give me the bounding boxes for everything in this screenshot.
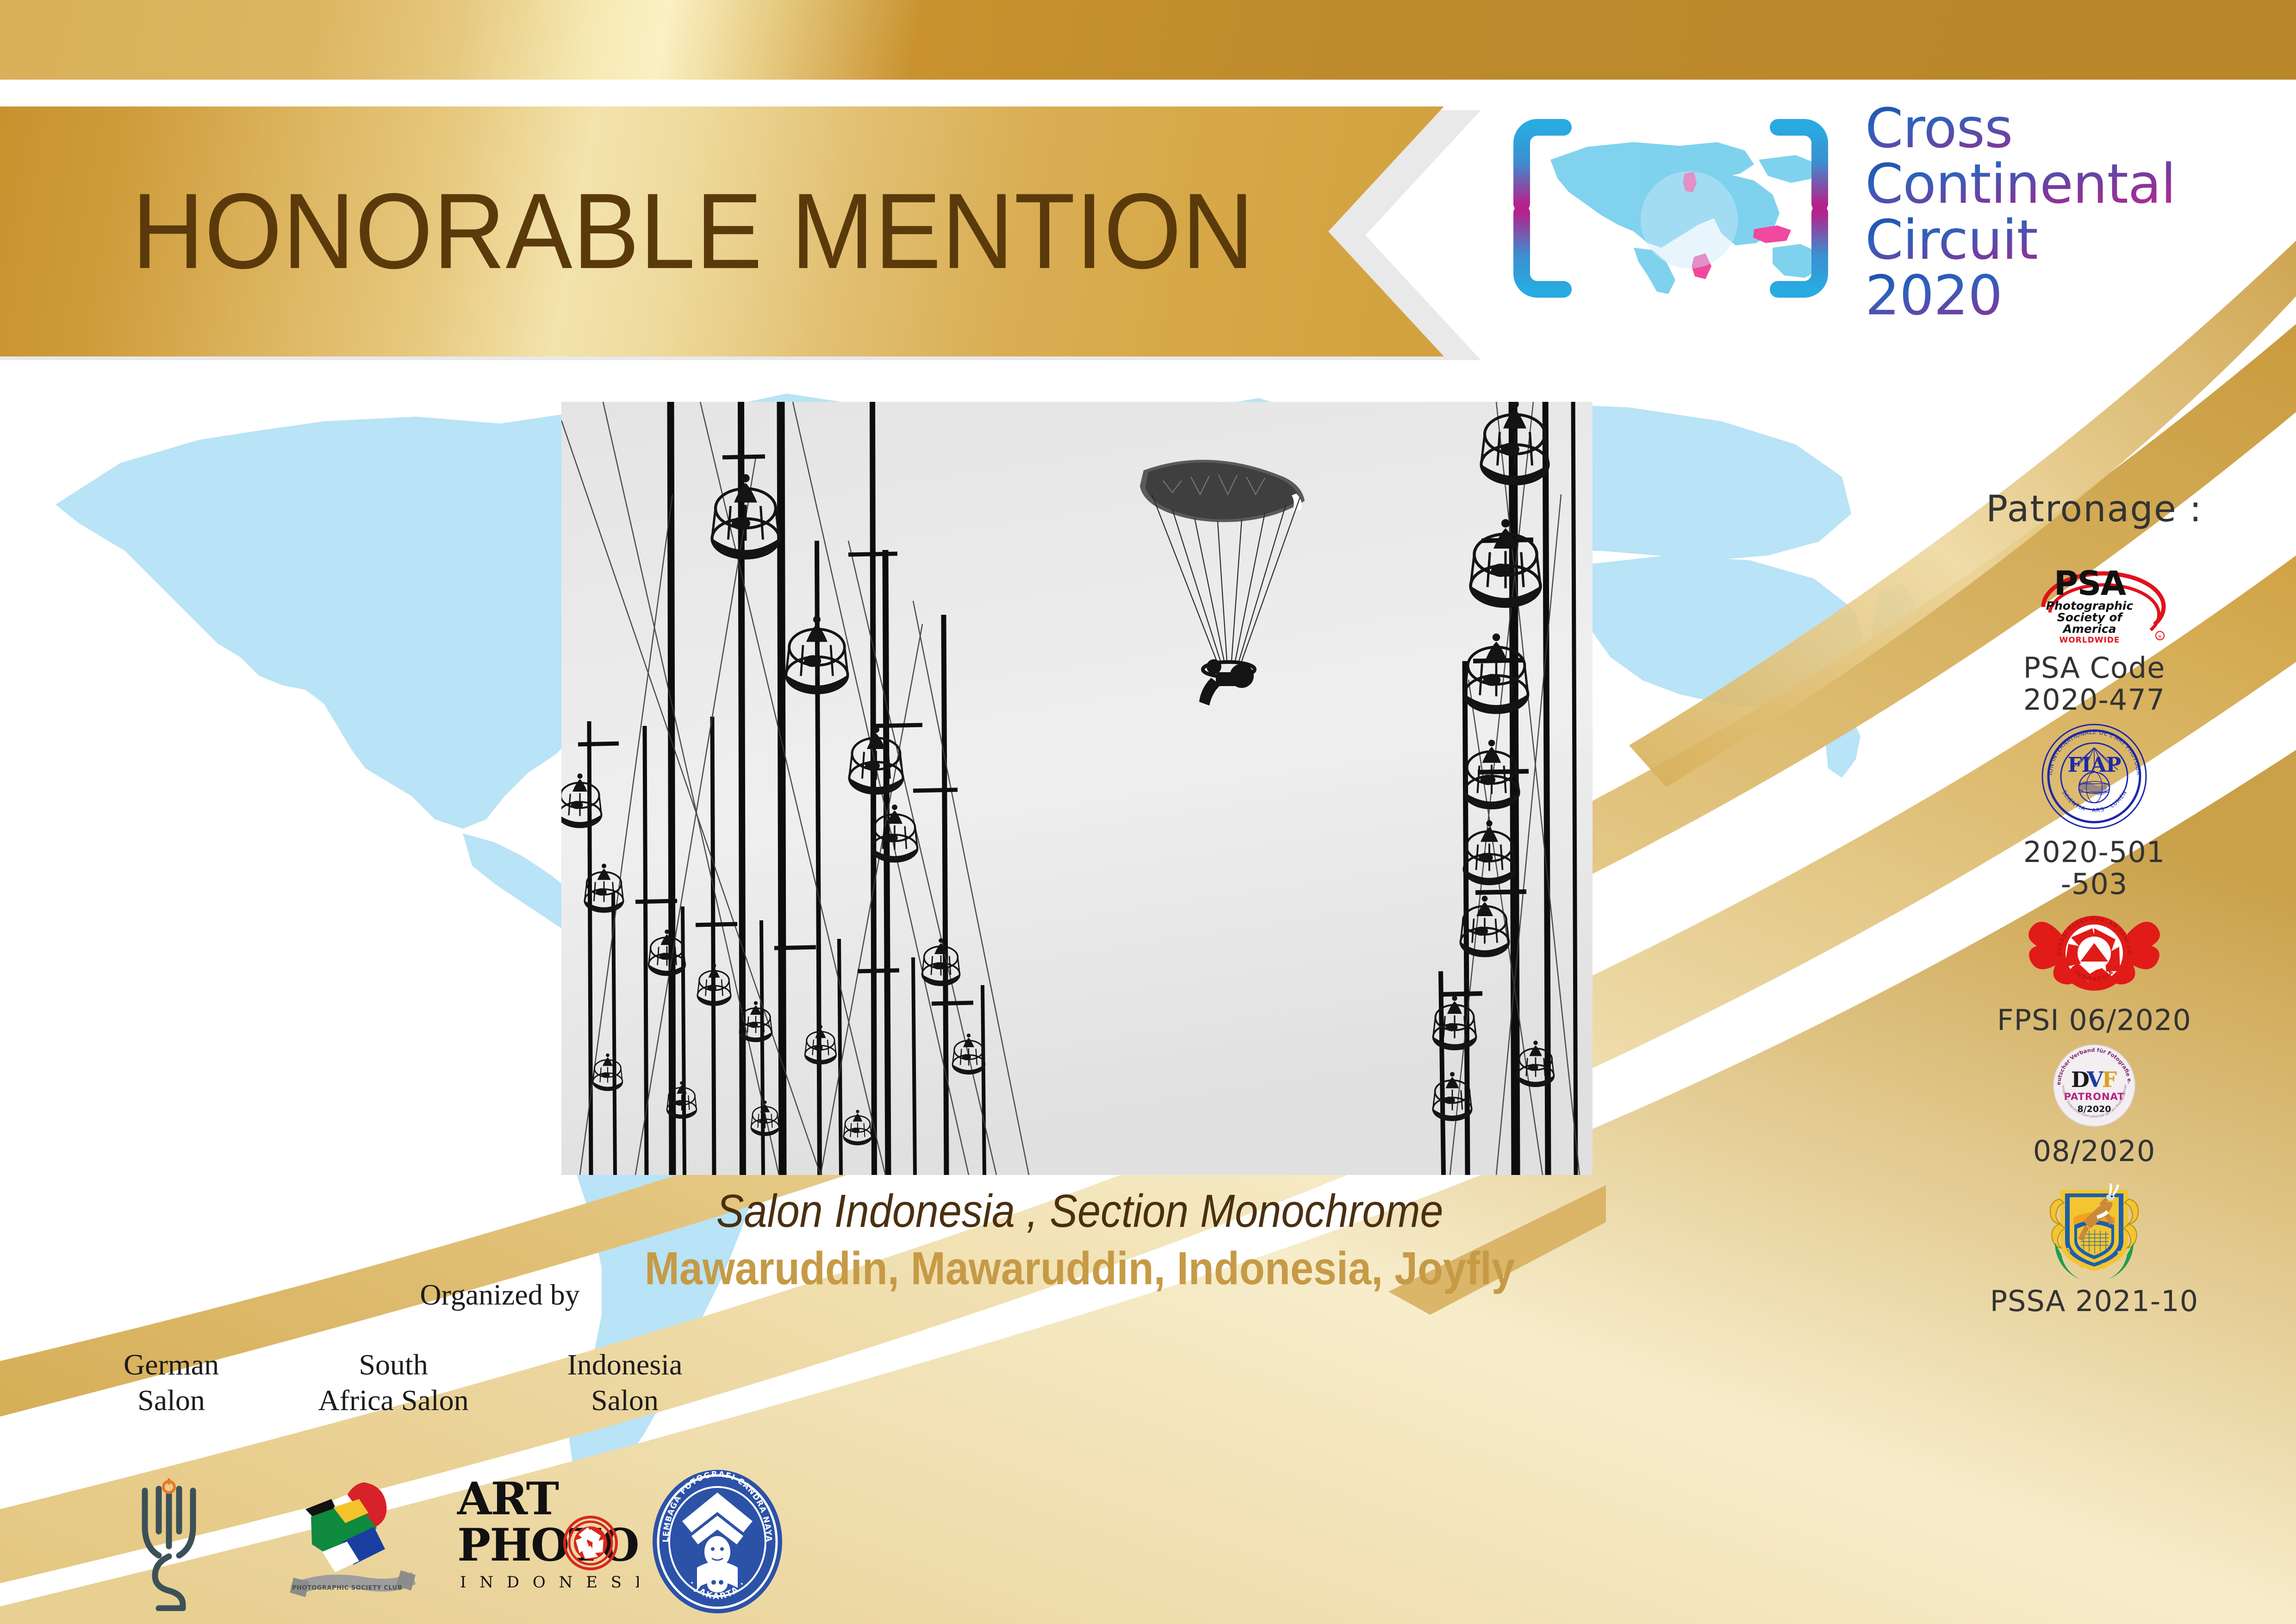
pssa-crest-icon: P · S · S · A [1932,1173,2256,1280]
fpsi-logo-icon: FEDERASI PERKUMPULAN SENI FOTO · INDONES… [1932,906,2256,999]
artphoto-line-3: I N D O N E S I A [460,1573,639,1592]
lfcn-jakarta-seal-icon: LEMBAGA FOTOGRAFI CANDRA NAYA · JAKARTA … [648,1468,787,1616]
organizer-indonesia-salon: Indonesia Salon [528,1347,722,1418]
award-banner: HONORABLE MENTION [0,106,1481,356]
salon-section-label: Salon Indonesia , Section Monochrome [613,1185,1546,1237]
organizers-section: Organized by German Salon South Africa S… [83,1278,963,1620]
svg-text:R: R [2159,635,2162,640]
organized-by-label: Organized by [407,1278,592,1312]
patronage-item-fpsi: FEDERASI PERKUMPULAN SENI FOTO · INDONES… [1932,906,2256,1036]
top-gold-strip [0,0,2296,80]
psa-code-label: PSA Code 2020-477 [1932,652,2256,716]
certificate-canvas: HONORABLE MENTION [0,0,2296,1624]
artphoto-logo-icon: ART PHOTO I N D O [454,1470,639,1609]
organizer-german-salon: German Salon [74,1347,268,1418]
patronage-item-pssa: P · S · S · A PSSA 2021-10 [1932,1173,2256,1317]
svg-text:F: F [2102,1067,2117,1092]
svg-text:America: America [2062,622,2116,636]
brand-line-1: Cross [1865,100,2176,156]
organizer-name: Indonesia Salon [528,1347,722,1418]
svg-text:WORLDWIDE: WORLDWIDE [2059,636,2120,645]
patronage-heading: Patronage : [1932,488,2256,530]
patronage-item-dvf: Deutscher Verband für Fotografie e.V. D … [1932,1042,2256,1167]
psa-logo-icon: PSA Photographic Society of America WORL… [1932,561,2256,646]
fiap-code-label: 2020-501 -503 [1932,836,2256,900]
world-map-bracket-icon [1495,109,1847,308]
svg-text:PSA: PSA [2054,564,2127,603]
brand-line-4: 2020 [1865,268,2176,323]
organizer-name: South Africa Salon [287,1347,500,1418]
page-title: HONORABLE MENTION [132,106,1254,356]
patronage-column: Patronage : PSA Photographic Society of … [1932,488,2256,1323]
organizer-name: German Salon [74,1347,268,1418]
patronage-item-psa: PSA Photographic Society of America WORL… [1932,561,2256,716]
svg-text:V: V [2086,1067,2104,1092]
patronage-item-fiap: FEDERATION INTERNATIONALE DE L'ART PHOTO… [1932,722,2256,900]
brand-line-3: Circuit [1865,212,2176,268]
south-africa-crest-icon: PHOTOGRAPHIC SOCIETY CLUB [278,1472,417,1611]
cross-continental-circuit-logo: Cross Continental Circuit 2020 [1495,109,2254,308]
german-trophy-icon [123,1477,215,1611]
organizer-south-africa-salon: South Africa Salon [287,1347,500,1418]
fiap-seal-icon: FEDERATION INTERNATIONALE DE L'ART PHOTO… [1932,722,2256,831]
artphoto-line-1: ART [457,1473,559,1525]
dvf-patronat-icon: Deutscher Verband für Fotografie e.V. D … [1932,1042,2256,1130]
brand-line-2: Continental [1865,156,2176,212]
dvf-code-label: 08/2020 [1932,1135,2256,1167]
brand-wordmark: Cross Continental Circuit 2020 [1865,100,2176,323]
pssa-code-label: PSSA 2021-10 [1932,1285,2256,1317]
awarded-photograph [561,402,1593,1175]
organizer-logos: PHOTOGRAPHIC SOCIETY CLUB ART PHOTO [83,1477,963,1620]
fpsi-code-label: FPSI 06/2020 [1932,1004,2256,1036]
svg-text:PHOTOGRAPHIC SOCIETY CLUB: PHOTOGRAPHIC SOCIETY CLUB [292,1585,402,1592]
svg-text:PATRONAT: PATRONAT [2064,1091,2125,1102]
svg-text:FIAP: FIAP [2067,753,2121,777]
